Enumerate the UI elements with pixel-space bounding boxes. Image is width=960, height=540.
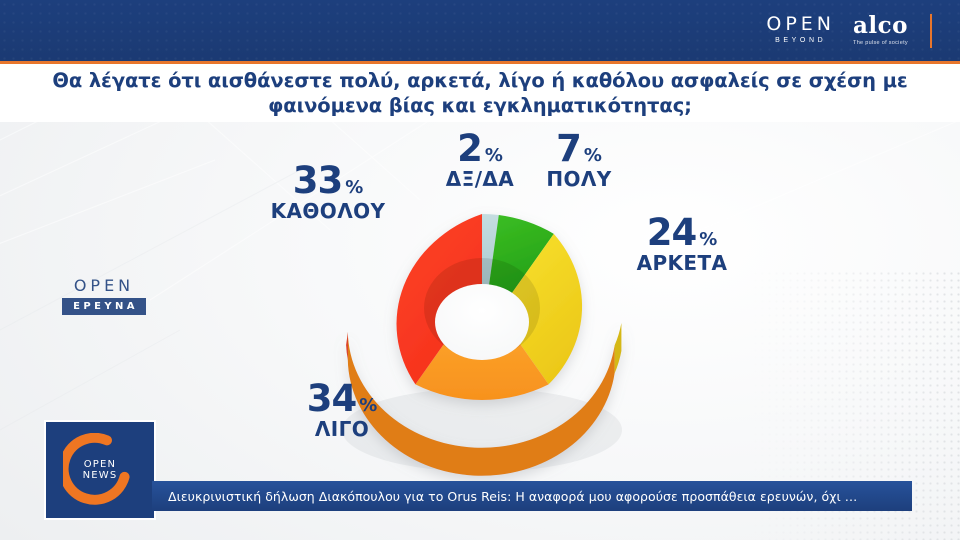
donut-hole — [435, 284, 529, 360]
open-beyond-logo: OPEN BEYOND — [766, 14, 835, 44]
callout-poly: 7 % ΠΟΛΥ — [524, 130, 634, 190]
callout-arketa-value: 24 — [647, 214, 697, 251]
watermark-ereyna-text: ΕΡΕΥΝΑ — [62, 298, 146, 315]
callout-ligo: 34 % ΛΙΓΟ — [272, 380, 412, 440]
callout-poly-label: ΠΟΛΥ — [524, 168, 634, 190]
alco-logo: alco The pulse of society — [853, 14, 908, 46]
open-news-line1: OPEN — [63, 459, 137, 470]
open-news-text: OPEN NEWS — [63, 459, 137, 481]
header-logos: OPEN BEYOND alco The pulse of society — [766, 14, 932, 50]
alco-wordmark: alco — [853, 14, 908, 37]
ticker-text: Διευκρινιστική δήλωση Διακόπουλου για το… — [152, 489, 857, 504]
callout-dk-label: ΔΞ/ΔΑ — [420, 168, 540, 190]
open-beyond-tagline: BEYOND — [775, 37, 826, 44]
alco-tagline: The pulse of society — [853, 40, 908, 46]
open-news-ring: OPEN NEWS — [63, 433, 137, 507]
callout-poly-value: 7 — [556, 130, 581, 167]
callout-arketa: 24 % ΑΡΚΕΤΑ — [612, 214, 752, 274]
callout-ligo-label: ΛΙΓΟ — [272, 418, 412, 440]
callout-ligo-percent: % — [359, 397, 377, 415]
callout-arketa-percent: % — [699, 231, 717, 249]
callout-katholou-value: 33 — [293, 162, 343, 199]
callout-katholou: 33 % ΚΑΘΟΛΟΥ — [248, 162, 408, 222]
callout-dk-percent: % — [485, 147, 503, 165]
open-ereyna-watermark: OPEN ΕΡΕΥΝΑ — [55, 277, 153, 315]
watermark-open-text: OPEN — [74, 277, 134, 295]
callout-arketa-label: ΑΡΚΕΤΑ — [612, 252, 752, 274]
news-ticker[interactable]: Διευκρινιστική δήλωση Διακόπουλου για το… — [152, 481, 912, 511]
callout-poly-percent: % — [584, 147, 602, 165]
slice-side-arketa — [615, 323, 622, 373]
open-news-line2: NEWS — [63, 470, 137, 481]
open-news-logo: OPEN NEWS — [44, 420, 156, 520]
callout-dk: 2 % ΔΞ/ΔΑ — [420, 130, 540, 190]
header-accent-bar — [930, 14, 932, 48]
callout-ligo-value: 34 — [307, 380, 357, 417]
title-band: Θα λέγατε ότι αισθάνεστε πολύ, αρκετά, λ… — [0, 64, 960, 122]
header-bar: OPEN BEYOND alco The pulse of society — [0, 0, 960, 61]
callout-dk-value: 2 — [457, 130, 482, 167]
page-title: Θα λέγατε ότι αισθάνεστε πολύ, αρκετά, λ… — [30, 68, 930, 118]
callout-katholou-percent: % — [345, 179, 363, 197]
slice-side-katholou — [346, 332, 348, 360]
open-beyond-wordmark: OPEN — [766, 14, 835, 34]
callout-katholou-label: ΚΑΘΟΛΟΥ — [248, 200, 408, 222]
